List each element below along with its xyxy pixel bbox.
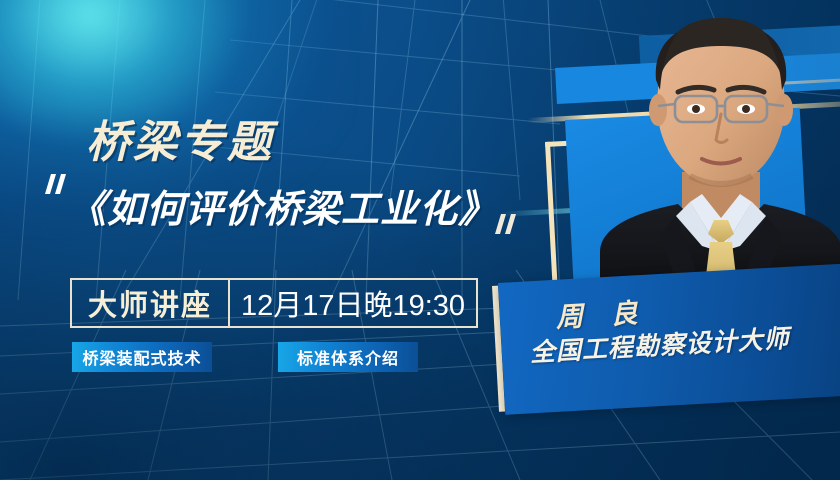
quote-close-icon bbox=[492, 212, 518, 236]
page-subtitle: 《如何评价桥梁工业化》 bbox=[68, 178, 497, 233]
topic-tag-1[interactable]: 桥梁装配式技术 bbox=[72, 342, 212, 372]
quote-open-icon bbox=[42, 172, 68, 196]
speaker-nameplate: 周 良 全国工程勘察设计大师 bbox=[498, 263, 840, 415]
lecture-info-bar: 大师讲座 12月17日晚19:30 bbox=[70, 278, 478, 328]
lecture-datetime: 12月17日晚19:30 bbox=[230, 282, 476, 324]
page-title: 桥梁专题 bbox=[86, 106, 274, 170]
topic-tag-2[interactable]: 标准体系介绍 bbox=[278, 342, 418, 372]
poster-canvas: 周 良 全国工程勘察设计大师 桥梁专题 《如何评价桥梁工业化》 大师讲座 12月… bbox=[0, 0, 840, 480]
speaker-portrait-icon bbox=[590, 0, 840, 310]
lecture-type-label: 大师讲座 bbox=[72, 280, 230, 326]
